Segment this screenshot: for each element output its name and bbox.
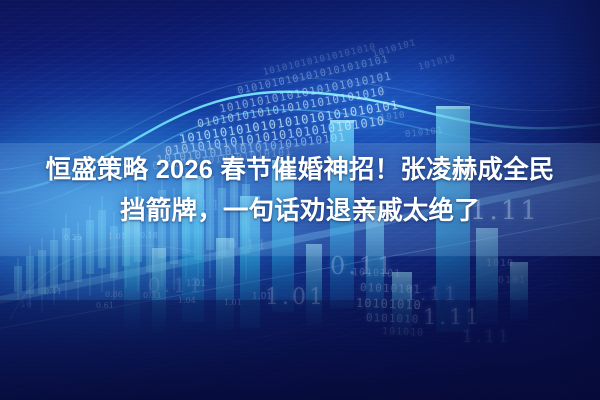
headline-line-1: 恒盛策略 2026 春节催婚神招！张凌赫成全民 — [0, 150, 600, 191]
banner-image: 1010101010101010100101010101010101010101… — [0, 0, 600, 400]
headline-text: 恒盛策略 2026 春节催婚神招！张凌赫成全民 挡箭牌，一句话劝退亲戚太绝了 — [0, 150, 600, 232]
headline-line-2: 挡箭牌，一句话劝退亲戚太绝了 — [0, 191, 600, 232]
